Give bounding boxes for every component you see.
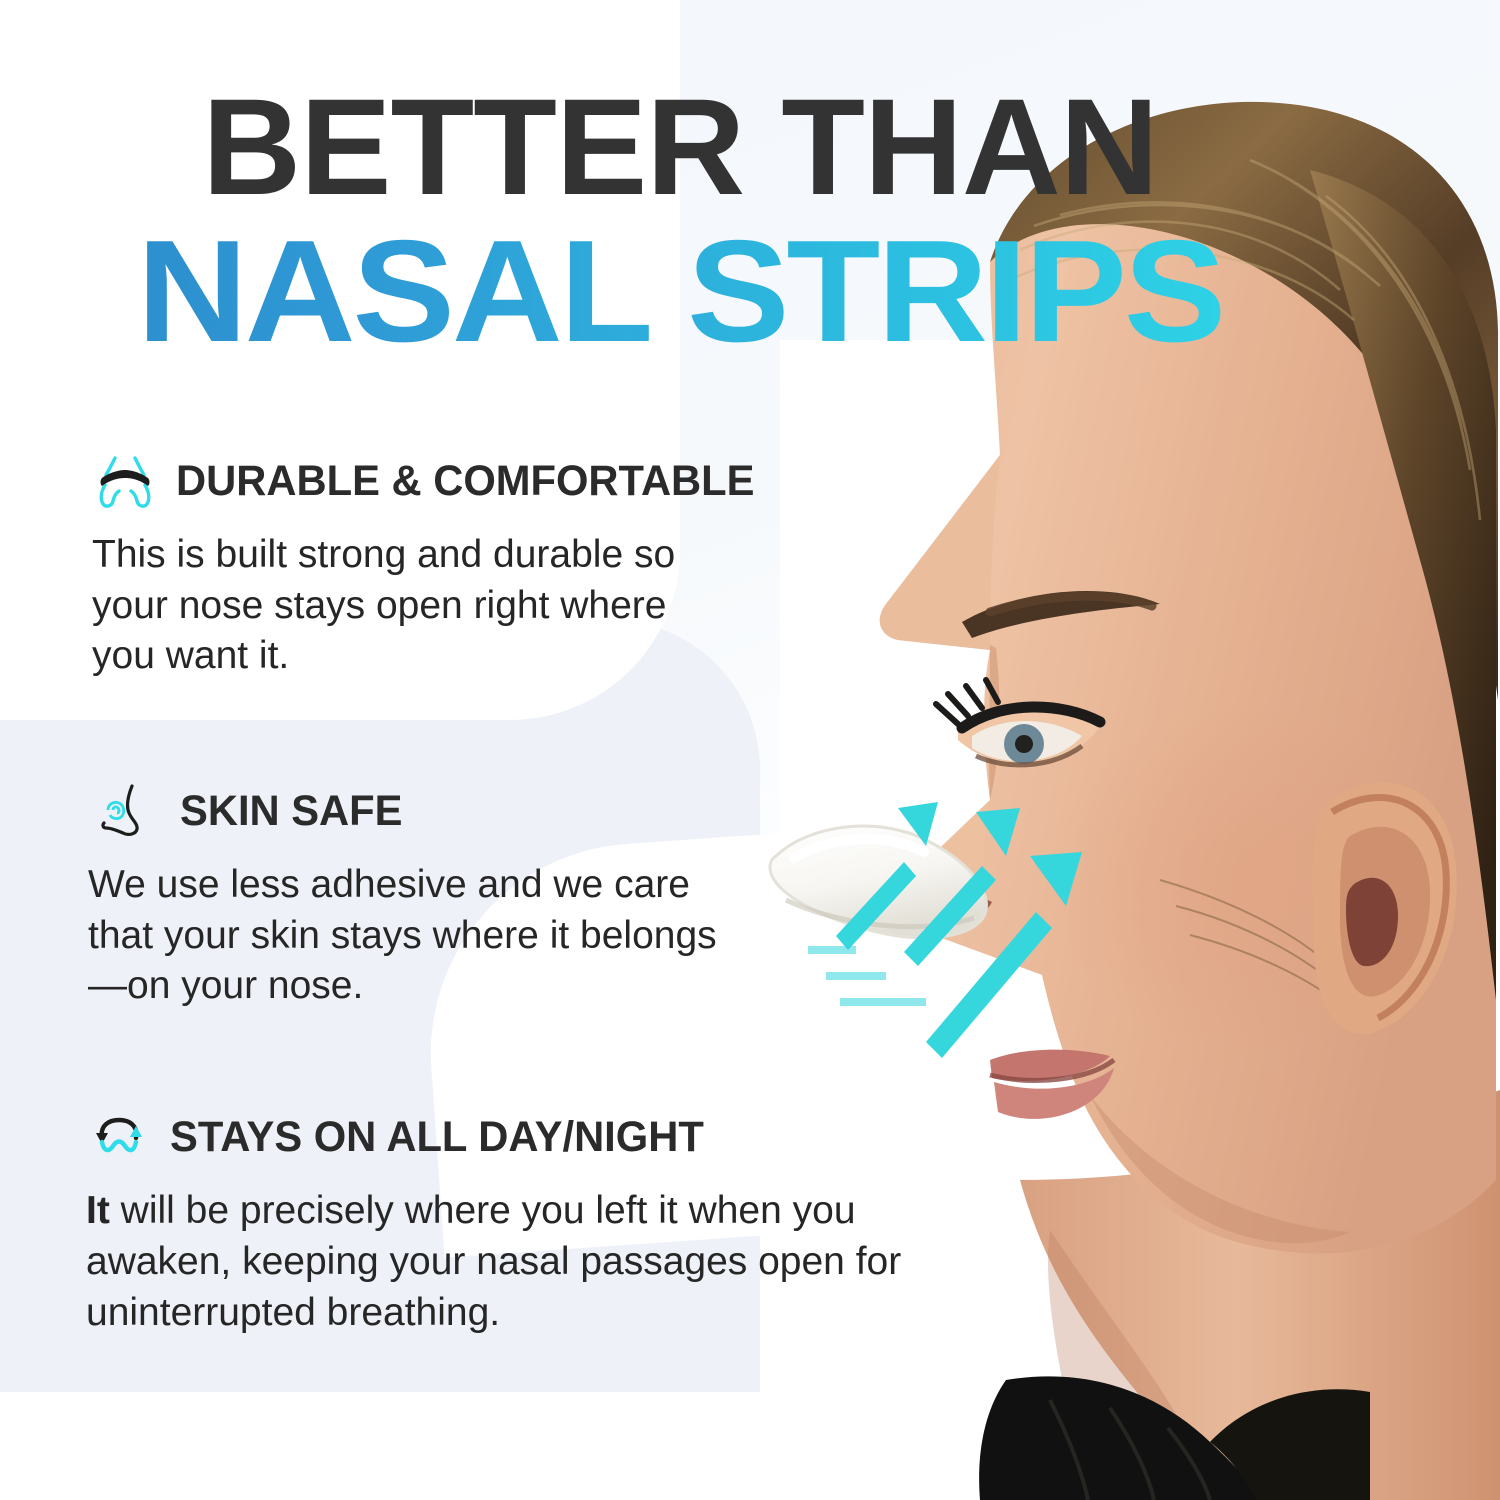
pupil xyxy=(1015,735,1033,753)
feature-body: It will be precisely where you left it w… xyxy=(86,1186,966,1338)
product-infographic: BETTER THAN NASAL STRIPS D xyxy=(0,0,1500,1500)
feature-heading: DURABLE & COMFORTABLE xyxy=(92,452,978,510)
feature-body: This is built strong and durable so your… xyxy=(92,530,712,682)
feature-item-skin-safe: SKIN SAFE We use less adhesive and we ca… xyxy=(96,782,978,1012)
headline: BETTER THAN NASAL STRIPS xyxy=(0,82,1360,361)
feature-body: We use less adhesive and we care that yo… xyxy=(88,860,728,1012)
nose-profile-patch-icon xyxy=(96,782,162,840)
feature-item-durable: DURABLE & COMFORTABLE This is built stro… xyxy=(92,452,978,682)
feature-heading: SKIN SAFE xyxy=(96,782,978,840)
feature-title: STAYS ON ALL DAY/NIGHT xyxy=(170,1113,704,1162)
nose-front-strip-icon xyxy=(92,452,158,510)
feature-list: DURABLE & COMFORTABLE This is built stro… xyxy=(78,452,978,1338)
strip-loop-arrows-icon xyxy=(86,1108,152,1166)
headline-line-1: BETTER THAN xyxy=(0,82,1360,215)
feature-title: SKIN SAFE xyxy=(180,787,402,836)
feature-item-stays-on: STAYS ON ALL DAY/NIGHT It will be precis… xyxy=(86,1108,978,1338)
feature-body-rest: will be precisely where you left it when… xyxy=(86,1189,901,1333)
feature-title: DURABLE & COMFORTABLE xyxy=(176,457,754,506)
headline-line-2: NASAL STRIPS xyxy=(0,223,1401,361)
feature-heading: STAYS ON ALL DAY/NIGHT xyxy=(86,1108,978,1166)
feature-body-lead: It xyxy=(86,1189,110,1232)
